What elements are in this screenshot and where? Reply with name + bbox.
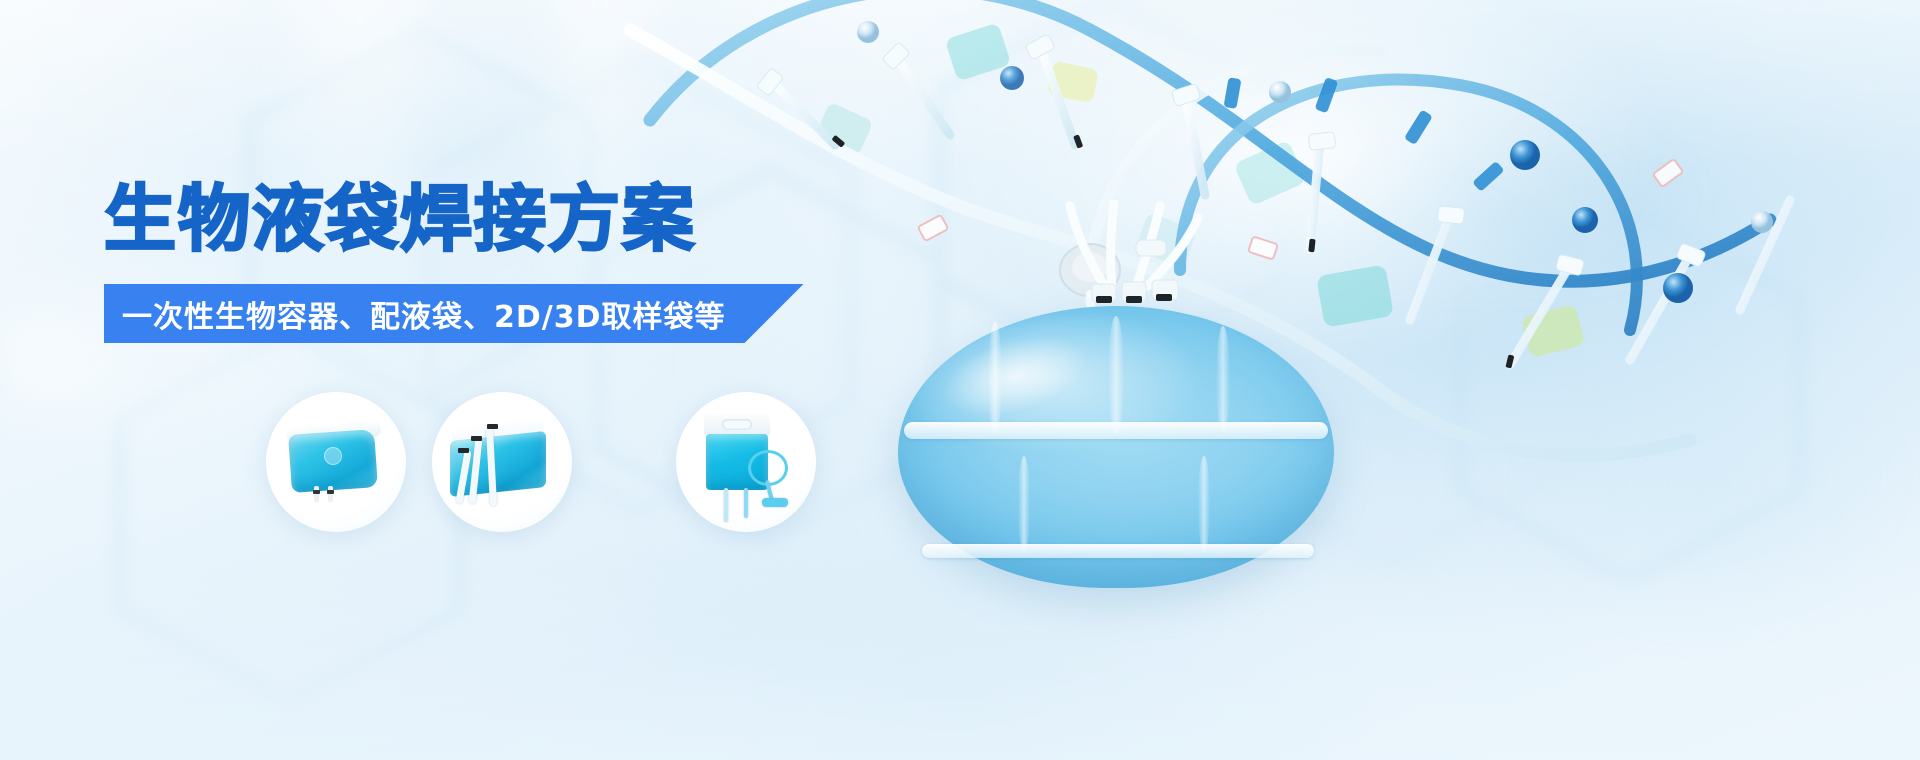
product-circle-1[interactable]	[266, 392, 406, 532]
tubing-manifold-icon	[1048, 200, 1228, 320]
product-thumbnails	[0, 0, 1000, 760]
sampling-bag-handle	[722, 419, 752, 430]
product-circle-2[interactable]	[432, 392, 572, 532]
pillow-bag-label	[324, 447, 342, 465]
product-circle-3[interactable]	[676, 392, 816, 532]
hero-banner: 生物液袋焊接方案 一次性生物容器、配液袋、2D/3D取样袋等	[0, 0, 1920, 760]
